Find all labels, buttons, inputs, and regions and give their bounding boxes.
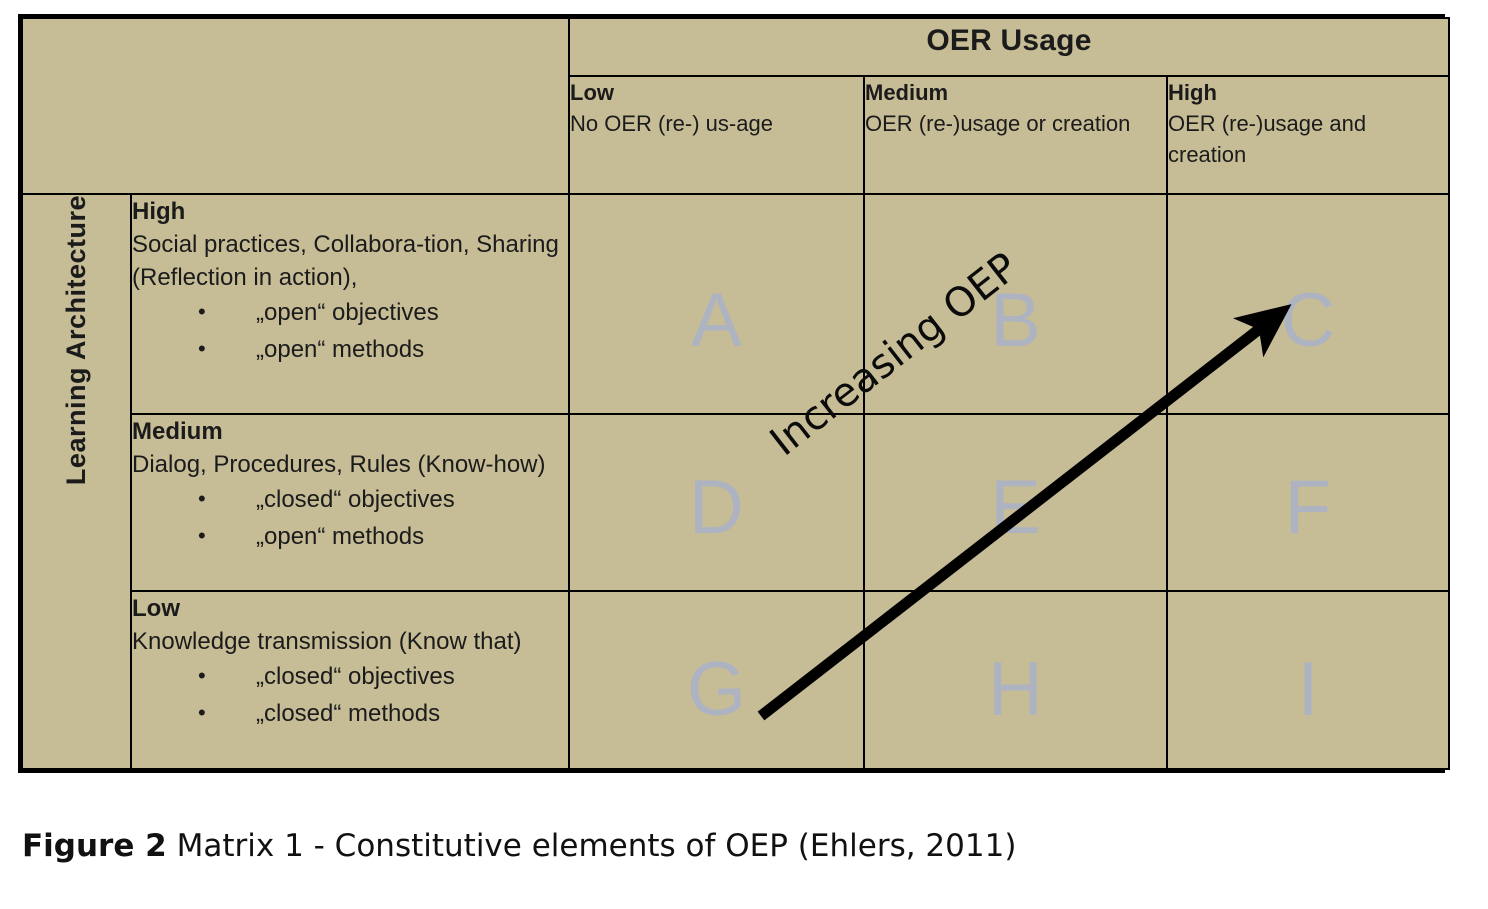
matrix-cell-d: D xyxy=(569,414,864,592)
matrix-row-low: Low Knowledge transmission (Know that) „… xyxy=(22,591,1449,769)
row-axis-title-cell: Learning Architecture xyxy=(22,194,131,769)
matrix-cell-b-label: B xyxy=(865,283,1166,359)
matrix-cell-a-label: A xyxy=(570,283,863,359)
matrix-cell-b: B xyxy=(864,194,1167,413)
column-header-low-level: Low xyxy=(570,77,863,108)
oep-matrix: OER Usage Low No OER (re-) us-age Medium… xyxy=(18,14,1445,773)
matrix-cell-g-label: G xyxy=(570,652,863,728)
matrix-cell-e: E xyxy=(864,414,1167,592)
column-header-medium: Medium OER (re-)usage or creation xyxy=(864,76,1167,195)
row-descriptor-low-text: Knowledge transmission (Know that) xyxy=(132,625,568,658)
row-descriptor-high: High Social practices, Collabora-tion, S… xyxy=(131,194,569,413)
figure-root: OER Usage Low No OER (re-) us-age Medium… xyxy=(0,0,1488,904)
matrix-cell-a: A xyxy=(569,194,864,413)
matrix-cell-f: F xyxy=(1167,414,1449,592)
row-descriptor-low-level: Low xyxy=(132,592,568,625)
matrix-cell-i-label: I xyxy=(1168,652,1448,728)
list-item: „open“ methods xyxy=(198,518,568,555)
matrix-cell-e-label: E xyxy=(865,470,1166,546)
column-header-high-level: High xyxy=(1168,77,1448,108)
matrix-cell-i: I xyxy=(1167,591,1449,769)
row-descriptor-high-level: High xyxy=(132,195,568,228)
list-item: „open“ methods xyxy=(198,331,568,368)
column-header-low-desc: No OER (re-) us-age xyxy=(570,108,863,139)
matrix-corner-cell xyxy=(22,18,569,194)
column-axis-title: OER Usage xyxy=(569,18,1449,76)
column-header-low: Low No OER (re-) us-age xyxy=(569,76,864,195)
row-descriptor-low-bullets: „closed“ objectives „closed“ methods xyxy=(132,658,568,732)
matrix-cell-h: H xyxy=(864,591,1167,769)
matrix-cell-g: G xyxy=(569,591,864,769)
column-header-medium-level: Medium xyxy=(865,77,1166,108)
row-descriptor-medium-text: Dialog, Procedures, Rules (Know-how) xyxy=(132,448,568,481)
column-header-high: High OER (re-)usage and creation xyxy=(1167,76,1449,195)
matrix-row-medium: Medium Dialog, Procedures, Rules (Know-h… xyxy=(22,414,1449,592)
list-item: „closed“ methods xyxy=(198,695,568,732)
row-descriptor-medium-level: Medium xyxy=(132,415,568,448)
matrix-table: OER Usage Low No OER (re-) us-age Medium… xyxy=(21,17,1450,770)
row-descriptor-low: Low Knowledge transmission (Know that) „… xyxy=(131,591,569,769)
figure-caption: Figure 2 Matrix 1 - Constitutive element… xyxy=(22,826,1016,866)
list-item: „closed“ objectives xyxy=(198,481,568,518)
row-descriptor-medium: Medium Dialog, Procedures, Rules (Know-h… xyxy=(131,414,569,592)
column-header-medium-desc: OER (re-)usage or creation xyxy=(865,108,1166,139)
figure-caption-text: Matrix 1 - Constitutive elements of OEP … xyxy=(177,828,1017,864)
row-descriptor-high-bullets: „open“ objectives „open“ methods xyxy=(132,294,568,368)
column-header-high-desc: OER (re-)usage and creation xyxy=(1168,108,1448,170)
row-axis-title: Learning Architecture xyxy=(61,195,92,485)
matrix-cell-h-label: H xyxy=(865,652,1166,728)
header-row-title: OER Usage xyxy=(22,18,1449,76)
matrix-cell-c: C xyxy=(1167,194,1449,413)
row-descriptor-high-text: Social practices, Collabora-tion, Sharin… xyxy=(132,228,568,294)
figure-caption-label: Figure 2 xyxy=(22,828,167,864)
matrix-cell-f-label: F xyxy=(1168,470,1448,546)
list-item: „closed“ objectives xyxy=(198,658,568,695)
matrix-cell-c-label: C xyxy=(1168,283,1448,359)
matrix-row-high: Learning Architecture High Social practi… xyxy=(22,194,1449,413)
row-descriptor-medium-bullets: „closed“ objectives „open“ methods xyxy=(132,481,568,555)
list-item: „open“ objectives xyxy=(198,294,568,331)
matrix-cell-d-label: D xyxy=(570,470,863,546)
